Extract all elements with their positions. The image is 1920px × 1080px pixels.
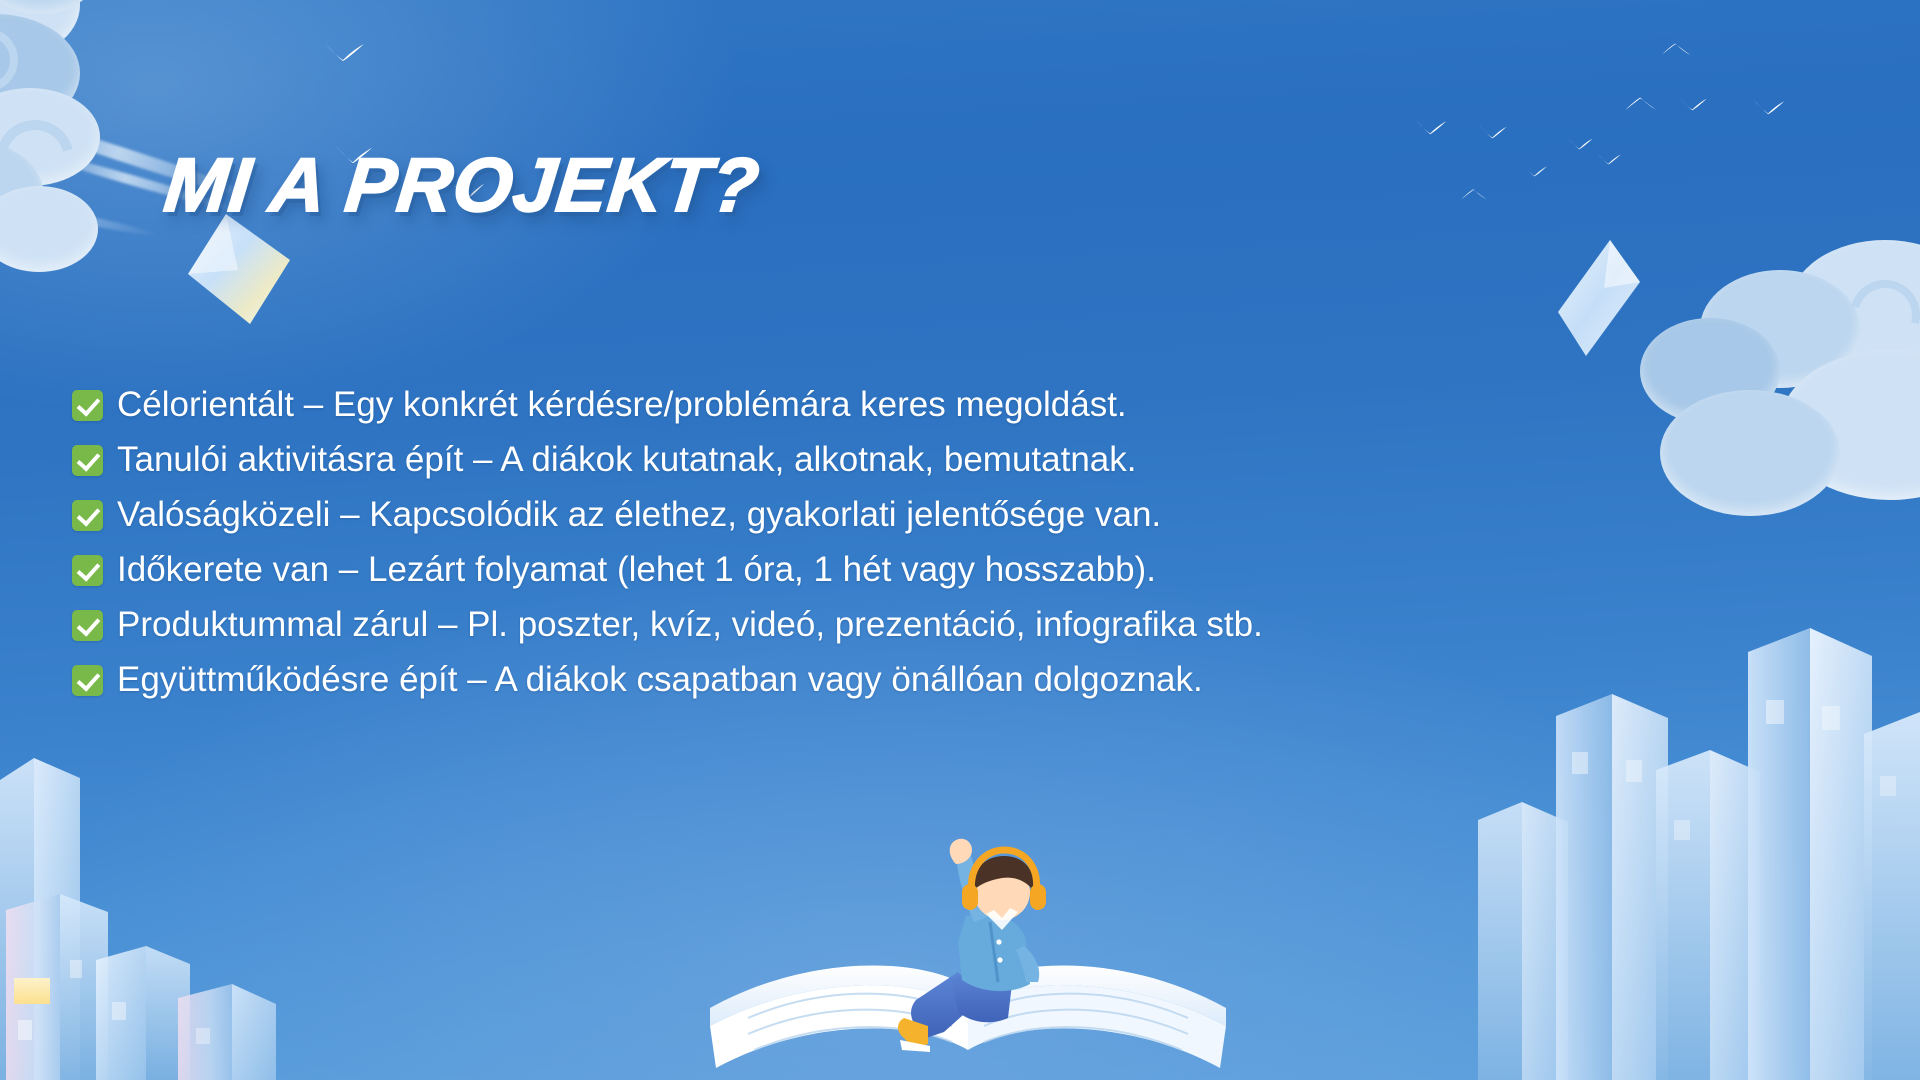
list-item-label: Együttműködésre épít – A diákok csapatba… xyxy=(117,658,1203,702)
list-item-label: Produktummal zárul – Pl. poszter, kvíz, … xyxy=(117,603,1263,647)
list-item-label: Időkerete van – Lezárt folyamat (lehet 1… xyxy=(117,548,1156,592)
check-mark-button-icon xyxy=(72,610,103,641)
bullet-list: Célorientált – Egy konkrét kérdésre/prob… xyxy=(72,383,1812,713)
bird-icon xyxy=(1566,136,1594,150)
page-title: MI A PROJEKT? xyxy=(160,142,763,229)
list-item: Együttműködésre épít – A diákok csapatba… xyxy=(72,658,1812,713)
slide-canvas: MI A PROJEKT? Célorientált – Egy konkrét… xyxy=(0,0,1920,1080)
list-item: Valóságközeli – Kapcsolódik az élethez, … xyxy=(72,493,1812,548)
list-item-label: Tanulói aktivitásra épít – A diákok kuta… xyxy=(117,438,1137,482)
student-reading-on-book-illustration xyxy=(690,750,1250,1080)
bird-icon xyxy=(1478,124,1508,139)
check-mark-button-icon xyxy=(72,445,103,476)
paper-shard-left xyxy=(178,212,298,327)
bird-icon xyxy=(1596,152,1622,165)
list-item-label: Célorientált – Egy konkrét kérdésre/prob… xyxy=(117,383,1127,427)
bird-icon xyxy=(1460,188,1488,202)
list-item-label: Valóságközeli – Kapcsolódik az élethez, … xyxy=(117,493,1161,537)
bird-icon xyxy=(322,40,366,62)
skyline-left xyxy=(0,660,300,1080)
bird-icon xyxy=(1678,96,1708,111)
bird-icon xyxy=(1414,118,1448,135)
list-item: Célorientált – Egy konkrét kérdésre/prob… xyxy=(72,383,1812,438)
bird-icon xyxy=(1624,96,1658,113)
bird-icon xyxy=(1660,42,1692,58)
list-item: Időkerete van – Lezárt folyamat (lehet 1… xyxy=(72,548,1812,603)
check-mark-button-icon xyxy=(72,665,103,696)
check-mark-button-icon xyxy=(72,500,103,531)
paper-shard-right xyxy=(1552,238,1644,358)
cloud-streak xyxy=(0,193,159,239)
check-mark-button-icon xyxy=(72,390,103,421)
bird-icon xyxy=(1522,164,1548,177)
check-mark-button-icon xyxy=(72,555,103,586)
list-item: Produktummal zárul – Pl. poszter, kvíz, … xyxy=(72,603,1812,658)
list-item: Tanulói aktivitásra épít – A diákok kuta… xyxy=(72,438,1812,493)
bird-icon xyxy=(1752,98,1786,115)
